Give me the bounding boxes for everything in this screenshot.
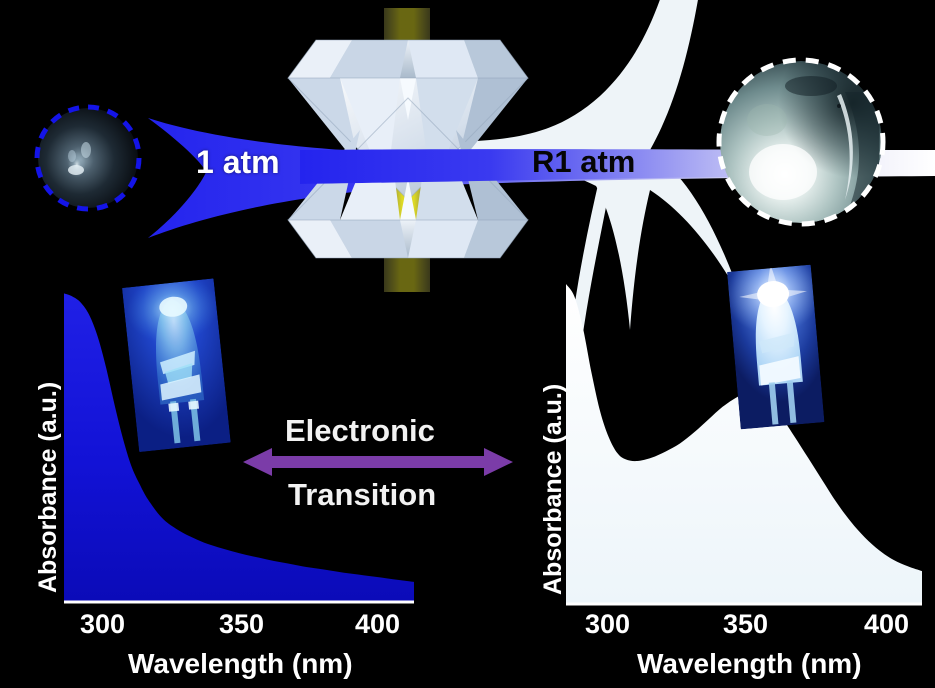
electronic-transition-arrow	[243, 448, 513, 476]
figure-graphics	[0, 0, 935, 688]
left-y-axis-title: Absorbance (a.u.)	[36, 382, 61, 593]
left-sample-circle	[37, 107, 139, 209]
figure-canvas: 1 atm R1 atm Electronic Transition Absor…	[0, 0, 935, 688]
left-xtick-300: 300	[80, 611, 125, 638]
right-pressure-label: R1 atm	[532, 146, 635, 177]
right-xtick-400: 400	[864, 611, 909, 638]
left-x-axis-title: Wavelength (nm)	[128, 650, 353, 678]
left-led-inset	[121, 270, 233, 452]
left-pressure-label: 1 atm	[196, 146, 280, 178]
right-xtick-350: 350	[723, 611, 768, 638]
right-xtick-300: 300	[585, 611, 630, 638]
left-xtick-350: 350	[219, 611, 264, 638]
right-x-axis-title: Wavelength (nm)	[637, 650, 862, 678]
transition-label-top: Electronic	[285, 415, 435, 446]
left-xtick-400: 400	[355, 611, 400, 638]
right-sample-circle	[719, 60, 883, 224]
transition-label-bottom: Transition	[288, 479, 436, 510]
right-y-axis-title: Absorbance (a.u.)	[541, 384, 566, 595]
